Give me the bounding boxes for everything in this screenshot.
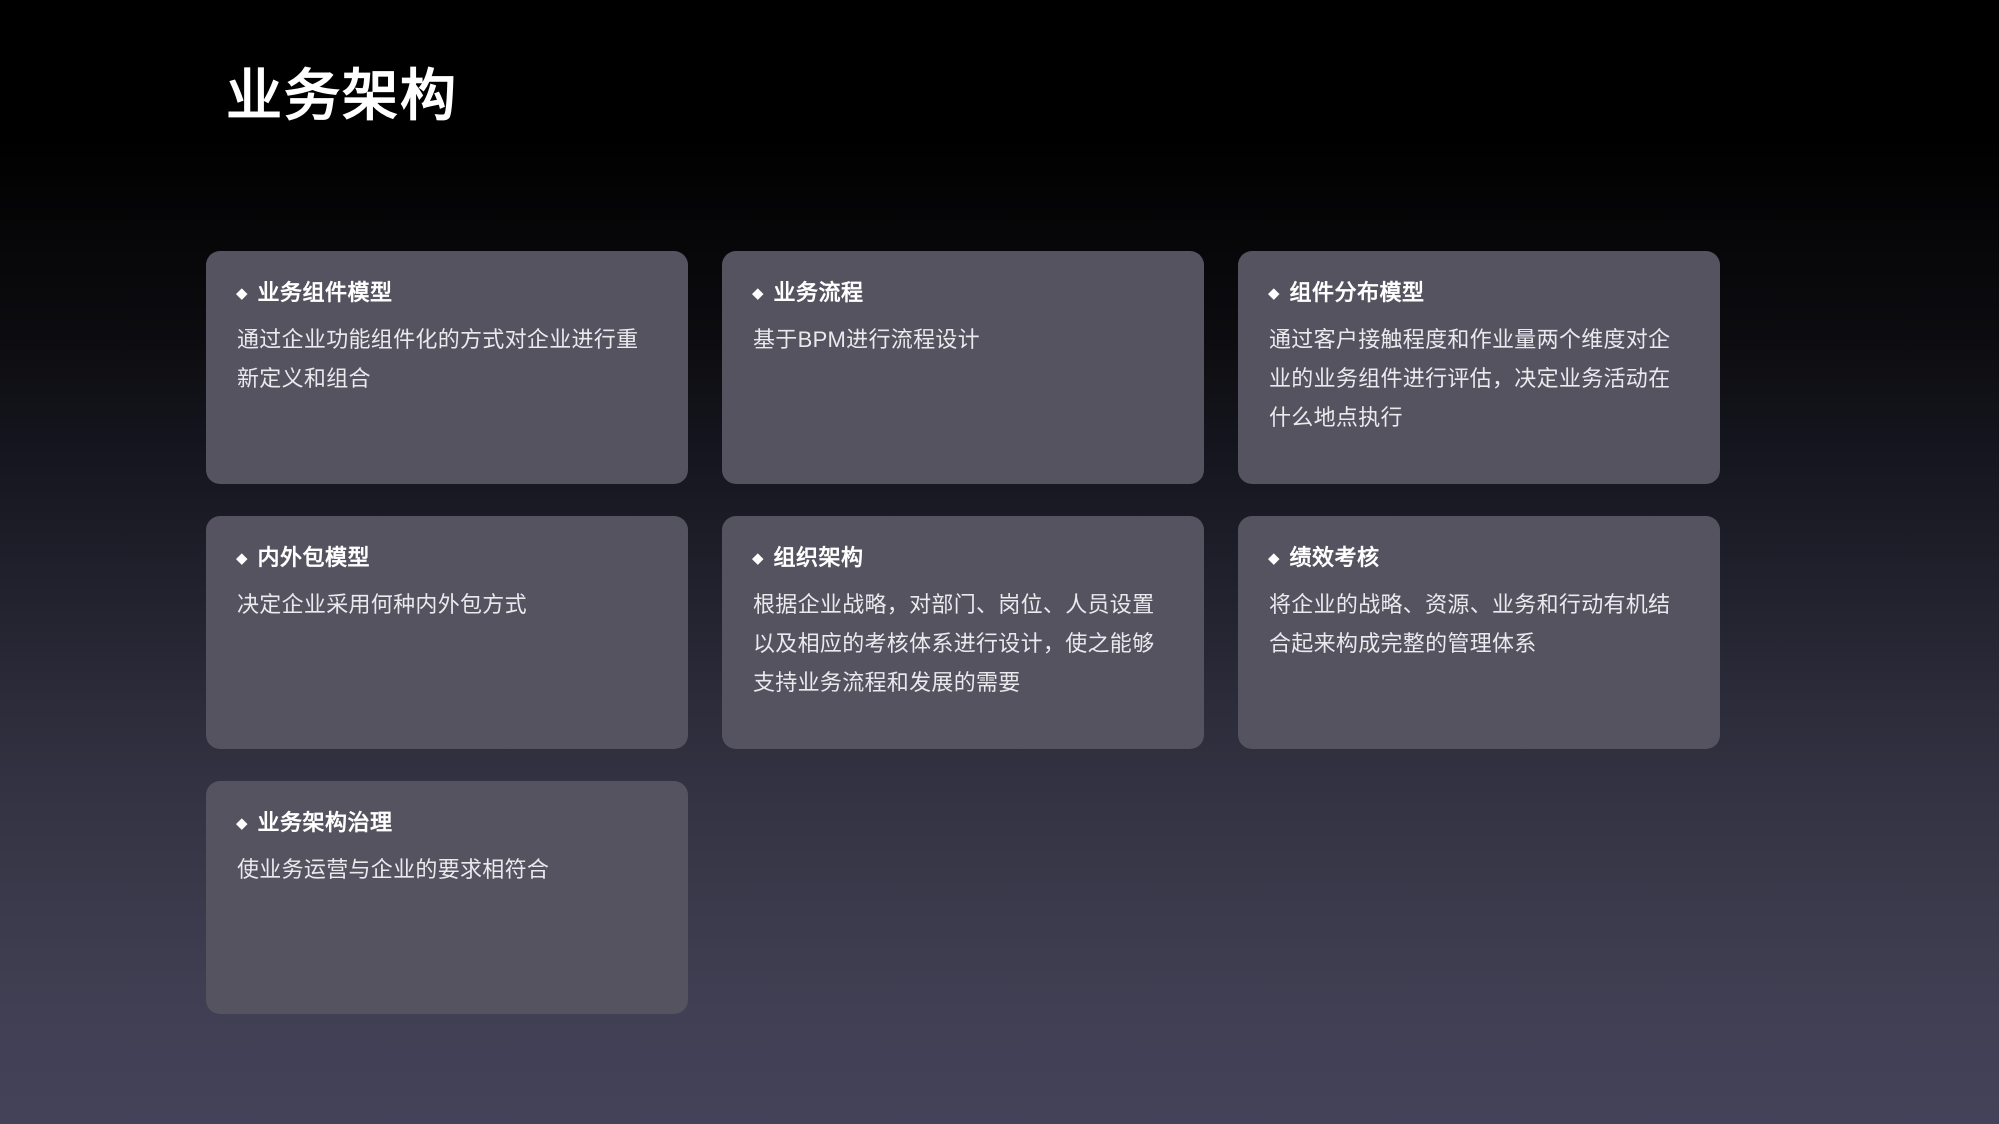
card-body: 使业务运营与企业的要求相符合: [236, 850, 658, 889]
card-title: 业务架构治理: [258, 809, 393, 838]
card-header: ◆ 绩效考核: [1268, 544, 1690, 573]
card-body: 根据企业战略，对部门、岗位、人员设置以及相应的考核体系进行设计，使之能够支持业务…: [752, 585, 1174, 702]
slide-root: 业务架构 ◆ 业务组件模型 通过企业功能组件化的方式对企业进行重新定义和组合 ◆…: [0, 0, 1999, 1124]
diamond-bullet-icon: ◆: [236, 286, 248, 301]
diamond-bullet-icon: ◆: [1268, 551, 1280, 566]
card-body: 通过企业功能组件化的方式对企业进行重新定义和组合: [236, 320, 658, 398]
page-title: 业务架构: [226, 62, 458, 129]
card-title: 业务流程: [774, 279, 864, 308]
card-performance-appraisal[interactable]: ◆ 绩效考核 将企业的战略、资源、业务和行动有机结合起来构成完整的管理体系: [1238, 516, 1720, 749]
card-grid: ◆ 业务组件模型 通过企业功能组件化的方式对企业进行重新定义和组合 ◆ 业务流程…: [206, 251, 1720, 1014]
diamond-bullet-icon: ◆: [236, 816, 248, 831]
card-title: 组件分布模型: [1290, 279, 1425, 308]
card-business-architecture-governance[interactable]: ◆ 业务架构治理 使业务运营与企业的要求相符合: [206, 781, 688, 1014]
diamond-bullet-icon: ◆: [1268, 286, 1280, 301]
card-header: ◆ 内外包模型: [236, 544, 658, 573]
card-title: 内外包模型: [258, 544, 371, 573]
card-business-component-model[interactable]: ◆ 业务组件模型 通过企业功能组件化的方式对企业进行重新定义和组合: [206, 251, 688, 484]
card-header: ◆ 业务架构治理: [236, 809, 658, 838]
card-body: 通过客户接触程度和作业量两个维度对企业的业务组件进行评估，决定业务活动在什么地点…: [1268, 320, 1690, 437]
card-body: 将企业的战略、资源、业务和行动有机结合起来构成完整的管理体系: [1268, 585, 1690, 663]
card-header: ◆ 业务组件模型: [236, 279, 658, 308]
card-header: ◆ 组件分布模型: [1268, 279, 1690, 308]
card-organization-structure[interactable]: ◆ 组织架构 根据企业战略，对部门、岗位、人员设置以及相应的考核体系进行设计，使…: [722, 516, 1204, 749]
card-title: 组织架构: [774, 544, 864, 573]
diamond-bullet-icon: ◆: [236, 551, 248, 566]
diamond-bullet-icon: ◆: [752, 551, 764, 566]
card-header: ◆ 业务流程: [752, 279, 1174, 308]
card-body: 基于BPM进行流程设计: [752, 320, 1174, 359]
card-body: 决定企业采用何种内外包方式: [236, 585, 658, 624]
card-header: ◆ 组织架构: [752, 544, 1174, 573]
card-component-distribution-model[interactable]: ◆ 组件分布模型 通过客户接触程度和作业量两个维度对企业的业务组件进行评估，决定…: [1238, 251, 1720, 484]
card-title: 业务组件模型: [258, 279, 393, 308]
diamond-bullet-icon: ◆: [752, 286, 764, 301]
card-insourcing-outsourcing-model[interactable]: ◆ 内外包模型 决定企业采用何种内外包方式: [206, 516, 688, 749]
card-title: 绩效考核: [1290, 544, 1380, 573]
card-business-process[interactable]: ◆ 业务流程 基于BPM进行流程设计: [722, 251, 1204, 484]
